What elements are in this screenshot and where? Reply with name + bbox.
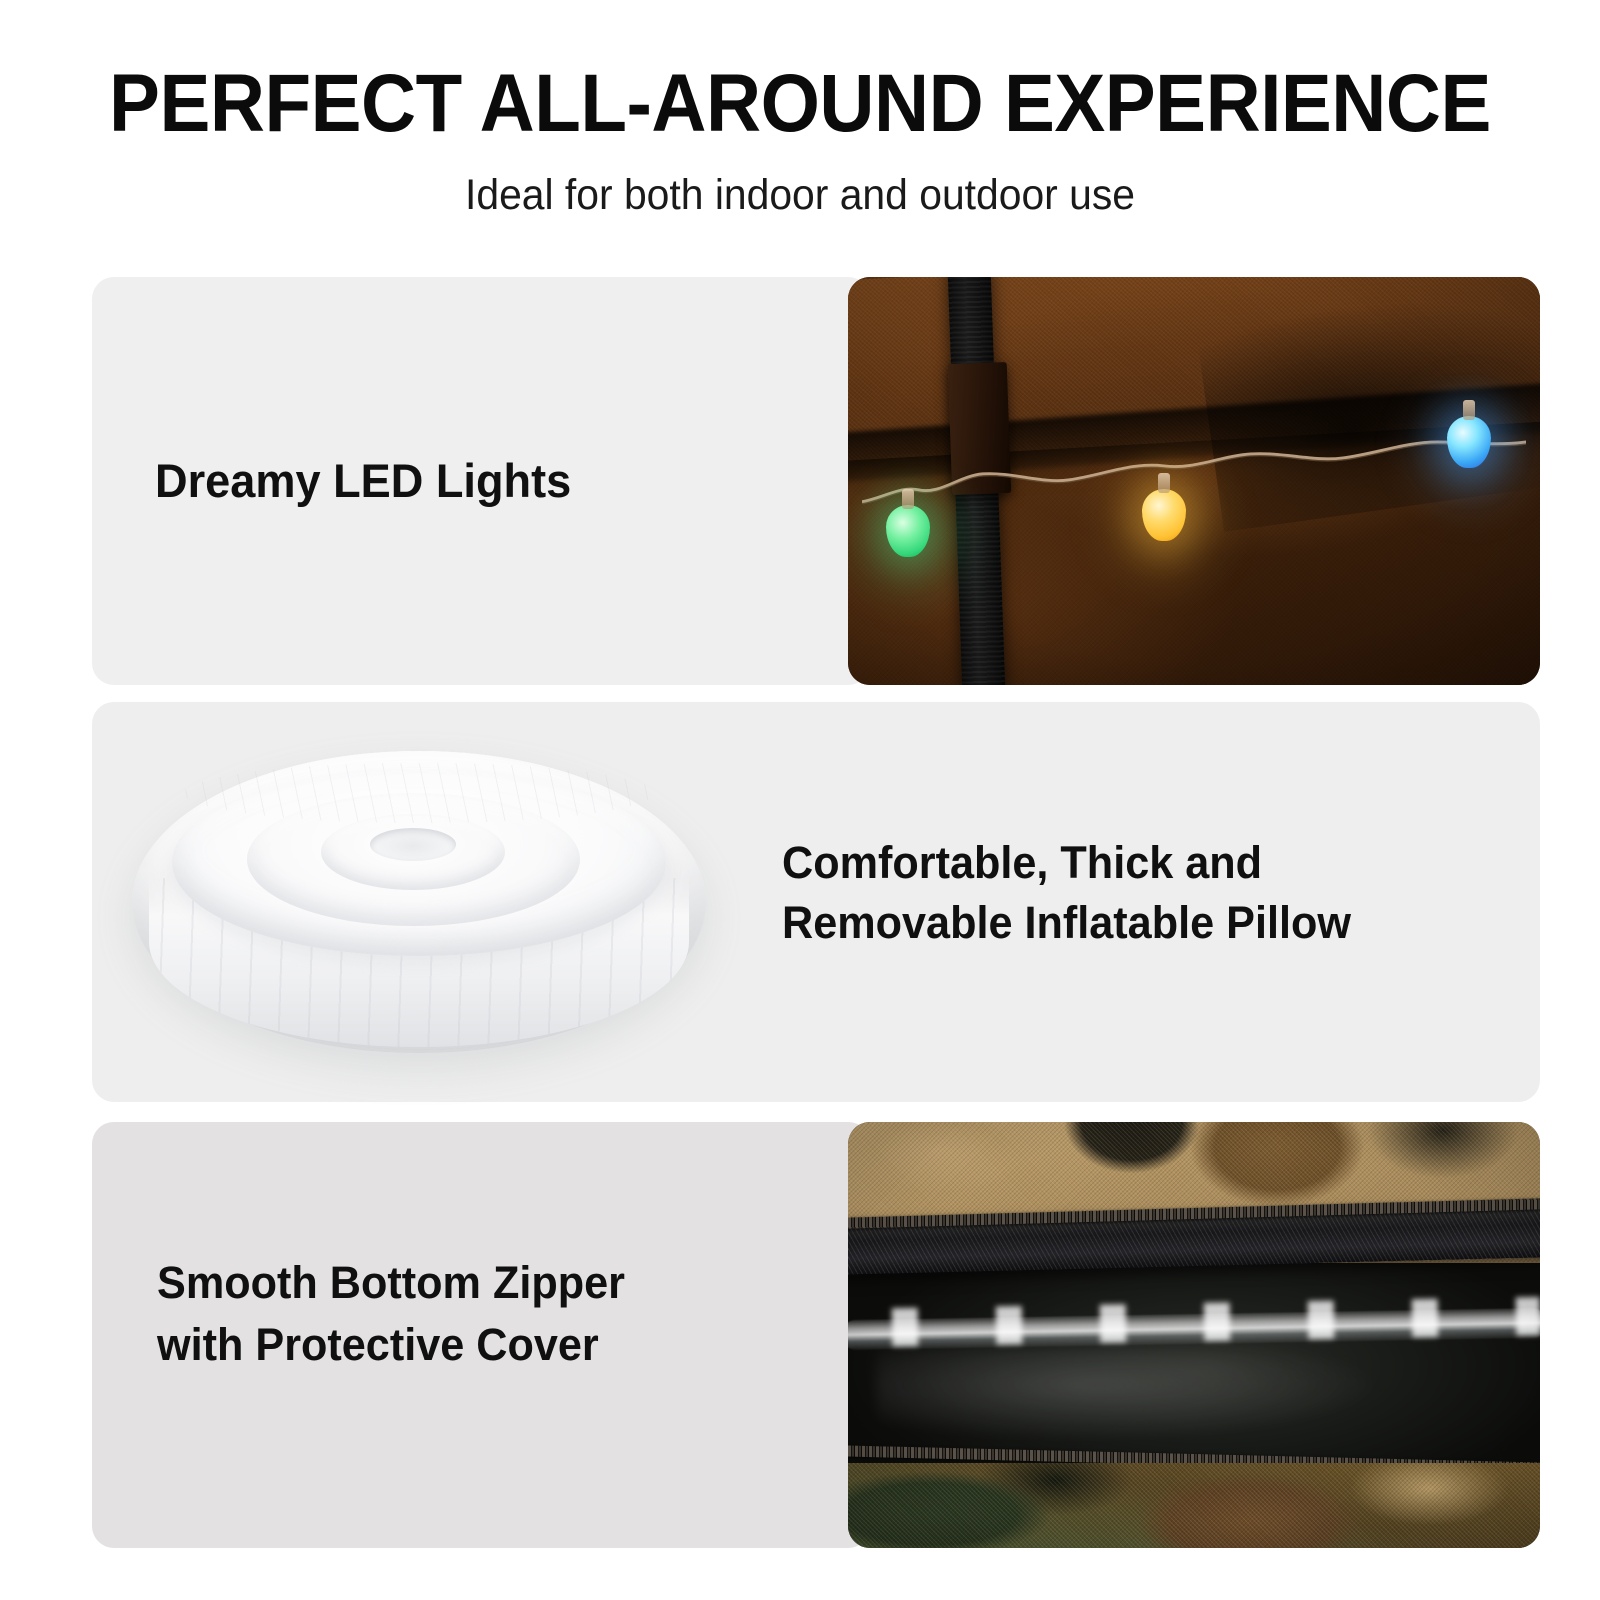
feature-photo-bottom-zipper xyxy=(848,1122,1540,1548)
camo-fabric-bottom xyxy=(848,1463,1540,1548)
infographic-page: PERFECT ALL-AROUND EXPERIENCE Ideal for … xyxy=(0,0,1600,1600)
blue-bulb-icon xyxy=(1447,416,1491,468)
feature-label-inflatable-pillow: Comfortable, Thick and Removable Inflata… xyxy=(782,833,1351,953)
strap-clip xyxy=(948,362,1011,495)
green-bulb-neck xyxy=(902,489,914,509)
feature-label-bottom-zipper: Smooth Bottom Zipper with Protective Cov… xyxy=(157,1252,625,1376)
feature-label-led-lights: Dreamy LED Lights xyxy=(155,452,571,510)
header: PERFECT ALL-AROUND EXPERIENCE Ideal for … xyxy=(0,0,1600,220)
interior-sheen xyxy=(876,1348,1388,1442)
feature-photo-inflatable-pillow xyxy=(118,706,818,1098)
feature-photo-led-lights xyxy=(848,277,1540,685)
blue-bulb-neck xyxy=(1463,400,1475,420)
page-title: PERFECT ALL-AROUND EXPERIENCE xyxy=(56,0,1544,150)
pillow-ring-core xyxy=(370,828,456,861)
pillow-top-seam xyxy=(184,763,655,824)
page-subtitle: Ideal for both indoor and outdoor use xyxy=(40,150,1560,220)
inflatable-pillow xyxy=(132,722,706,1083)
yellow-bulb-neck xyxy=(1158,473,1170,493)
camo-weave-bottom xyxy=(848,1463,1540,1548)
pillow-body xyxy=(132,751,706,1054)
